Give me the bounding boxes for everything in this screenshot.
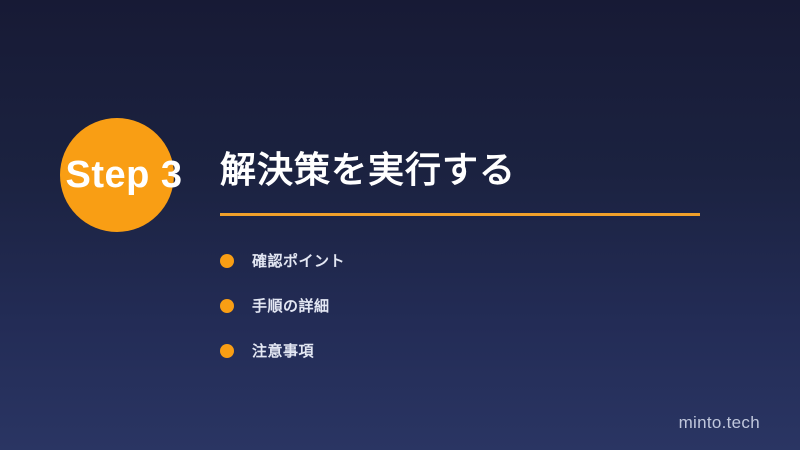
bullet-dot-icon [220,344,234,358]
list-item: 確認ポイント [220,238,690,283]
footer-brand: minto.tech [679,413,760,433]
title-divider [220,213,700,216]
slide-canvas: Step 3 解決策を実行する 確認ポイント 手順の詳細 注意事項 minto.… [0,0,800,450]
bullet-list: 確認ポイント 手順の詳細 注意事項 [220,238,690,373]
bullet-label: 確認ポイント [252,250,345,271]
bullet-dot-icon [220,254,234,268]
bullet-dot-icon [220,299,234,313]
step-number-label: Step 3 [44,153,204,197]
list-item: 注意事項 [220,328,690,373]
bullet-label: 手順の詳細 [252,295,330,316]
list-item: 手順の詳細 [220,283,690,328]
bullet-label: 注意事項 [252,340,314,361]
slide-title: 解決策を実行する [220,146,516,194]
